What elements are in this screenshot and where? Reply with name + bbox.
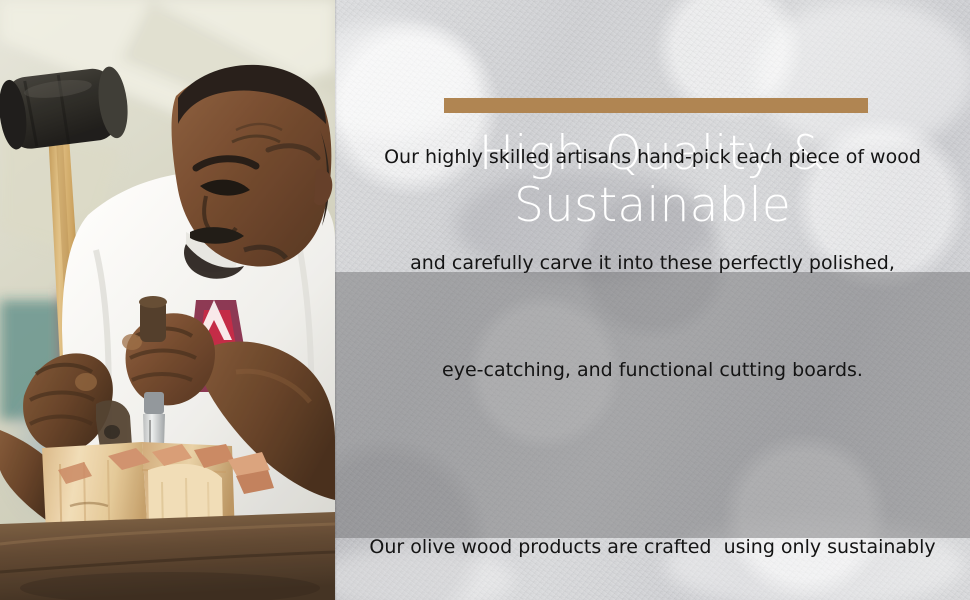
text-panel: High-Quality & Sustainable Our highly sk… <box>335 0 970 600</box>
paragraph-1-line-1: Our highly skilled artisans hand-pick ea… <box>384 140 921 176</box>
paragraph-1-line-2: and carefully carve it into these perfec… <box>384 246 921 282</box>
paragraph-1-line-3: eye-catching, and functional cutting boa… <box>384 353 921 389</box>
paragraph-2-line-1: Our olive wood products are crafted usin… <box>369 530 935 566</box>
paragraph-1: Our highly skilled artisans hand-pick ea… <box>384 69 921 460</box>
body-copy-band: Our highly skilled artisans hand-pick ea… <box>335 272 970 538</box>
paragraph-2: Our olive wood products are crafted usin… <box>369 459 935 600</box>
product-feature-banner: High-Quality & Sustainable Our highly sk… <box>0 0 970 600</box>
artisan-photo-illustration <box>0 0 335 600</box>
artisan-photo <box>0 0 335 600</box>
